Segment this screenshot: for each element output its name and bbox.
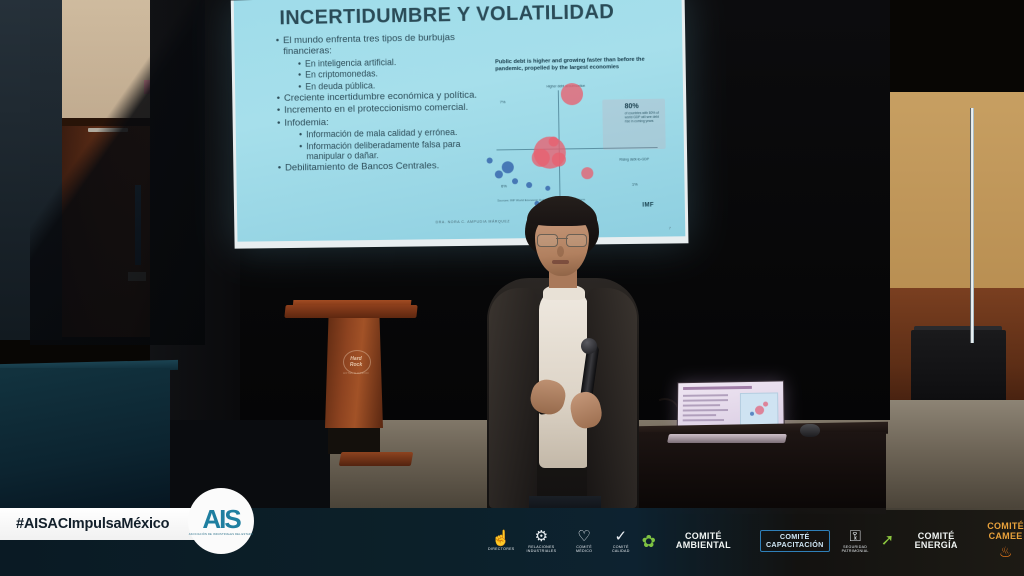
bullet-dot-icon: • bbox=[277, 118, 280, 129]
chart-bubble bbox=[561, 83, 583, 105]
podium-brand-sublabel: HOTEL & CASINO bbox=[341, 372, 371, 375]
chart-bubble bbox=[545, 186, 550, 191]
chart-tick-label: 7% bbox=[500, 99, 506, 104]
committee-label: SEGURIDAD PATRIMONIAL bbox=[842, 546, 869, 553]
ais-logo-text: AIS bbox=[202, 506, 239, 532]
committee-logo-comite-medico: ♡ COMITÉ MÉDICO bbox=[568, 529, 600, 553]
chart-tick-label: 6% bbox=[501, 183, 507, 188]
bullet-dot-icon: • bbox=[278, 163, 281, 174]
laptop-chart-bubble bbox=[763, 402, 768, 407]
left-draped-table bbox=[0, 368, 170, 513]
speaker-shirt bbox=[539, 288, 589, 468]
bullet-dot-icon: • bbox=[277, 105, 280, 116]
laptop-slide-line bbox=[683, 404, 720, 406]
committee-label: COMITÉ CAMEE bbox=[987, 522, 1024, 541]
leaf-icon: ✿ bbox=[642, 533, 656, 550]
chart-source: IMF bbox=[642, 202, 654, 208]
slide-bullet: •Debilitamiento de Bancos Centrales. bbox=[278, 160, 492, 174]
chart-bubble bbox=[495, 171, 503, 179]
glasses-lens-right bbox=[566, 234, 587, 247]
slide-bullet: •Información deliberadamente falsa para … bbox=[299, 138, 491, 162]
committee-label: COMITÉ ENERGÍA bbox=[897, 532, 975, 550]
podium-lower bbox=[328, 428, 380, 454]
laptop-slide-line bbox=[683, 399, 728, 401]
committee-logo-directores: ☝ DIRECTORES bbox=[488, 531, 515, 552]
slide-bullet-text: En criptomonedas. bbox=[305, 69, 378, 81]
committee-logo-strip: ☝ DIRECTORES ⚙ RELACIONES INDUSTRIALES ♡… bbox=[488, 518, 1024, 564]
bullet-dot-icon: • bbox=[276, 35, 280, 58]
speaker-mouth bbox=[552, 260, 569, 264]
chart-bubble bbox=[581, 167, 593, 179]
committee-label: COMITÉ MÉDICO bbox=[568, 546, 600, 553]
committee-label: DIRECTORES bbox=[488, 548, 515, 552]
hand-bulb-icon: ☝ bbox=[492, 531, 511, 546]
chart-bubble bbox=[552, 152, 566, 166]
chart-bubble bbox=[502, 161, 514, 173]
podium-brand-label: Hard Rock bbox=[344, 356, 368, 368]
glasses-bridge bbox=[556, 238, 568, 239]
bullet-dot-icon: • bbox=[277, 93, 280, 104]
podium-base bbox=[339, 452, 413, 466]
flame-icon: ♨ bbox=[999, 545, 1012, 560]
conference-photo: INCERTIDUMBRE Y VOLATILIDAD •El mundo en… bbox=[0, 0, 1024, 576]
laptop-slide-line bbox=[683, 414, 716, 416]
bullet-dot-icon: • bbox=[299, 141, 302, 162]
chart-tick-label: 1% bbox=[632, 182, 638, 187]
hashtag-label: #AISACImpulsaMéxico bbox=[16, 516, 169, 532]
chart-title: Public debt is higher and growing faster… bbox=[495, 57, 656, 73]
glasses-lens-left bbox=[537, 234, 558, 247]
committee-logo-seguridad-patrimonial: ⚿ SEGURIDAD PATRIMONIAL bbox=[842, 529, 869, 553]
chart-bubble bbox=[487, 157, 493, 163]
chart-annotation-text: of countries with 80% of world GDP will … bbox=[625, 112, 664, 124]
draped-table bbox=[636, 432, 886, 514]
left-shadow-overlay bbox=[30, 0, 205, 345]
chart-bubble bbox=[512, 179, 518, 185]
chart-annotation-value: 80% bbox=[625, 103, 639, 110]
slide-bullet-list: •El mundo enfrenta tres tipos de burbuja… bbox=[276, 31, 492, 175]
laptop-slide-line bbox=[683, 419, 724, 421]
arrow-up-icon: ➚ bbox=[881, 533, 894, 549]
bullet-dot-icon: • bbox=[298, 59, 301, 69]
laptop-slide-line bbox=[683, 409, 728, 411]
chart-bubble bbox=[526, 182, 532, 188]
chart-bubble bbox=[531, 149, 549, 167]
bullet-dot-icon: • bbox=[298, 70, 301, 80]
speaker-glasses bbox=[537, 234, 587, 245]
slide-bullet-text: Infodemia: bbox=[284, 117, 329, 129]
committee-logo-comite-energia: ➚ COMITÉ ENERGÍA bbox=[881, 532, 975, 550]
laptop-slide-line bbox=[683, 394, 728, 396]
slide-bullet-text: El mundo enfrenta tres tipos de burbujas… bbox=[283, 31, 490, 58]
sponsor-banner: #AISACImpulsaMéxico AIS ASOCIACIÓN DE IN… bbox=[0, 508, 1024, 576]
chart-axis-note-right: Rising debt-to-GDP bbox=[619, 157, 662, 162]
chart-plot-area: Higher debt accumulation Rising debt-to-… bbox=[489, 80, 672, 195]
speaker bbox=[487, 196, 639, 514]
committee-logo-comite-ambiental: ✿ COMITÉ AMBIENTAL bbox=[642, 532, 748, 550]
laptop-chart-bubble bbox=[755, 406, 764, 415]
committee-logo-comite-camee: COMITÉ CAMEE ♨ bbox=[987, 522, 1024, 559]
mouse bbox=[800, 424, 820, 437]
speaker-hair-fringe bbox=[527, 198, 597, 226]
heart-pin-icon: ♡ bbox=[577, 529, 590, 544]
committee-label: COMITÉ CALIDAD bbox=[612, 546, 630, 553]
slide-bullet-text: Debilitamiento de Bancos Centrales. bbox=[285, 161, 439, 175]
speaker-nose bbox=[557, 246, 564, 257]
slide-bullet-text: En inteligencia artificial. bbox=[305, 57, 396, 69]
slide-page-number: 7 bbox=[669, 225, 671, 230]
podium-lectern-top bbox=[284, 305, 417, 318]
laptop-keyboard bbox=[667, 434, 787, 443]
slide-title: INCERTIDUMBRE Y VOLATILIDAD bbox=[279, 1, 614, 30]
slide-bullet-text: Información deliberadamente falsa para m… bbox=[306, 138, 491, 162]
laptop-chart-bubble bbox=[750, 412, 754, 416]
slide-bullet: •El mundo enfrenta tres tipos de burbuja… bbox=[276, 31, 490, 58]
lock-shield-icon: ⚿ bbox=[849, 529, 860, 544]
committee-logo-comite-capacitacion: COMITÉ CAPACITACIÓN bbox=[760, 530, 830, 552]
bullet-dot-icon: • bbox=[298, 81, 301, 91]
bullet-dot-icon: • bbox=[299, 130, 302, 140]
committee-label: COMITÉ CAPACITACIÓN bbox=[766, 533, 824, 549]
ais-logo-subtext: ASOCIACIÓN DE INDUSTRIALES DEL ESTADO bbox=[189, 533, 253, 536]
gear-icon: ⚙ bbox=[535, 529, 548, 544]
laptop-slide-title-bar bbox=[683, 386, 752, 390]
ais-logo: AIS ASOCIACIÓN DE INDUSTRIALES DEL ESTAD… bbox=[188, 488, 254, 554]
check-shield-icon: ✓ bbox=[615, 529, 628, 544]
committee-logo-relaciones-industriales: ⚙ RELACIONES INDUSTRIALES bbox=[527, 529, 557, 553]
slide-bullet-text: En deuda pública. bbox=[305, 80, 375, 92]
committee-label: COMITÉ AMBIENTAL bbox=[659, 532, 748, 550]
committee-label: RELACIONES INDUSTRIALES bbox=[527, 546, 557, 553]
light-pole bbox=[970, 108, 974, 343]
committee-logo-comite-calidad: ✓ COMITÉ CALIDAD bbox=[612, 529, 630, 553]
